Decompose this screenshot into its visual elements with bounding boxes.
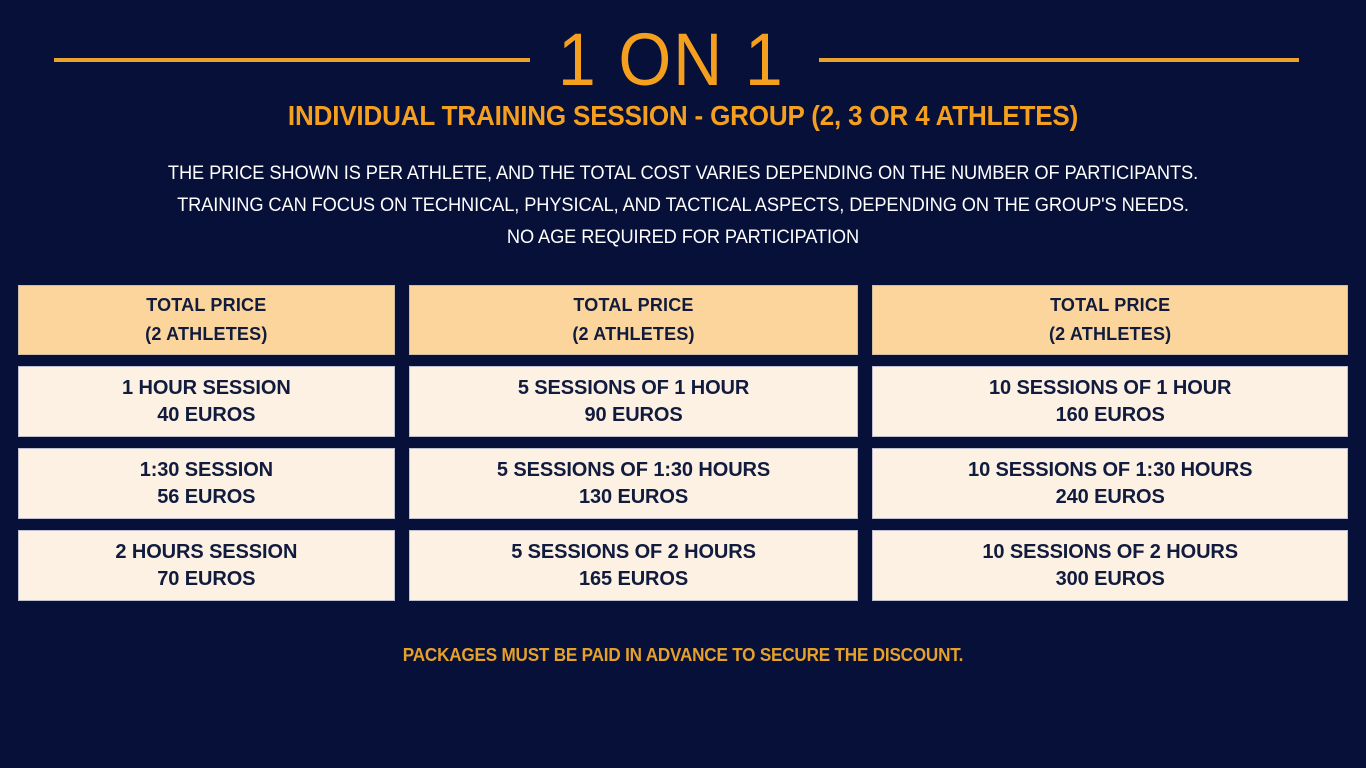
description-line-3: NO AGE REQUIRED FOR PARTICIPATION: [27, 222, 1338, 254]
footer-note: PACKAGES MUST BE PAID IN ADVANCE TO SECU…: [34, 645, 1332, 666]
pricing-column-2: TOTAL PRICE (2 ATHLETES) 5 SESSIONS OF 1…: [409, 285, 859, 601]
pricing-card[interactable]: 1 HOUR SESSION 40 EUROS: [18, 366, 395, 437]
header-sublabel: (2 ATHLETES): [145, 324, 267, 345]
pricing-card-description: 10 SESSIONS OF 2 HOURS: [982, 539, 1238, 566]
pricing-card-price: 130 EUROS: [579, 484, 688, 511]
description-block: THE PRICE SHOWN IS PER ATHLETE, AND THE …: [0, 158, 1366, 254]
title-rule-right: [819, 58, 1299, 62]
title-rule-left: [54, 58, 530, 62]
pricing-card-price: 160 EUROS: [1056, 402, 1165, 429]
description-line-2: TRAINING CAN FOCUS ON TECHNICAL, PHYSICA…: [27, 190, 1338, 222]
pricing-card[interactable]: 5 SESSIONS OF 2 HOURS 165 EUROS: [409, 530, 859, 601]
page-title: 1 ON 1: [558, 23, 785, 97]
pricing-column-1: TOTAL PRICE (2 ATHLETES) 1 HOUR SESSION …: [18, 285, 395, 601]
pricing-card-price: 165 EUROS: [579, 566, 688, 593]
pricing-card-price: 40 EUROS: [157, 402, 255, 429]
pricing-column-2-header: TOTAL PRICE (2 ATHLETES): [409, 285, 859, 355]
pricing-card-description: 10 SESSIONS OF 1:30 HOURS: [968, 457, 1252, 484]
pricing-card[interactable]: 10 SESSIONS OF 1:30 HOURS 240 EUROS: [872, 448, 1348, 519]
pricing-card[interactable]: 10 SESSIONS OF 1 HOUR 160 EUROS: [872, 366, 1348, 437]
page-subtitle: INDIVIDUAL TRAINING SESSION - GROUP (2, …: [48, 100, 1318, 132]
pricing-card-price: 70 EUROS: [157, 566, 255, 593]
pricing-card-description: 1:30 SESSION: [140, 457, 273, 484]
pricing-card[interactable]: 2 HOURS SESSION 70 EUROS: [18, 530, 395, 601]
pricing-column-3: TOTAL PRICE (2 ATHLETES) 10 SESSIONS OF …: [872, 285, 1348, 601]
header-sublabel: (2 ATHLETES): [1049, 324, 1171, 345]
pricing-card-description: 2 HOURS SESSION: [115, 539, 297, 566]
pricing-poster: 1 ON 1 INDIVIDUAL TRAINING SESSION - GRO…: [0, 0, 1366, 768]
header-label: TOTAL PRICE: [1050, 295, 1170, 316]
title-row: 1 ON 1: [0, 18, 1366, 102]
pricing-card[interactable]: 10 SESSIONS OF 2 HOURS 300 EUROS: [872, 530, 1348, 601]
pricing-card-price: 240 EUROS: [1056, 484, 1165, 511]
pricing-card-description: 10 SESSIONS OF 1 HOUR: [989, 375, 1231, 402]
pricing-card-description: 5 SESSIONS OF 1 HOUR: [518, 375, 749, 402]
pricing-card-price: 90 EUROS: [584, 402, 682, 429]
pricing-grid: TOTAL PRICE (2 ATHLETES) 1 HOUR SESSION …: [18, 285, 1348, 601]
pricing-card[interactable]: 5 SESSIONS OF 1 HOUR 90 EUROS: [409, 366, 859, 437]
pricing-column-3-header: TOTAL PRICE (2 ATHLETES): [872, 285, 1348, 355]
pricing-column-1-header: TOTAL PRICE (2 ATHLETES): [18, 285, 395, 355]
pricing-card-price: 56 EUROS: [157, 484, 255, 511]
header-label: TOTAL PRICE: [146, 295, 266, 316]
pricing-card-description: 5 SESSIONS OF 1:30 HOURS: [497, 457, 770, 484]
header-label: TOTAL PRICE: [573, 295, 693, 316]
pricing-card[interactable]: 1:30 SESSION 56 EUROS: [18, 448, 395, 519]
pricing-card-price: 300 EUROS: [1056, 566, 1165, 593]
pricing-card[interactable]: 5 SESSIONS OF 1:30 HOURS 130 EUROS: [409, 448, 859, 519]
header-sublabel: (2 ATHLETES): [572, 324, 694, 345]
pricing-card-description: 1 HOUR SESSION: [122, 375, 291, 402]
pricing-card-description: 5 SESSIONS OF 2 HOURS: [511, 539, 756, 566]
description-line-1: THE PRICE SHOWN IS PER ATHLETE, AND THE …: [27, 158, 1338, 190]
